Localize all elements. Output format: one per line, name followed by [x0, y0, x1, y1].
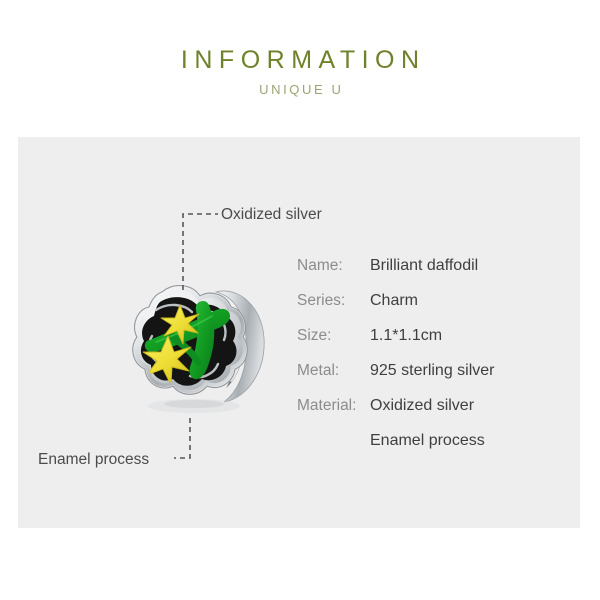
spec-label-material: Material:: [297, 396, 370, 416]
charm-reflection-core: [164, 400, 224, 408]
spec-label-metal: Metal:: [297, 361, 370, 381]
spec-row-size: Size: 1.1*1.1cm: [297, 326, 557, 361]
spec-row-material-continued: Enamel process: [297, 431, 557, 466]
spec-value-material: Oxidized silver: [370, 396, 474, 416]
spec-label-name: Name:: [297, 256, 370, 276]
page-header: INFORMATION UNIQUE U: [0, 0, 600, 137]
spec-label-series: Series:: [297, 291, 370, 311]
charm-face: [133, 286, 247, 395]
spec-value-size: 1.1*1.1cm: [370, 326, 442, 346]
product-image: [112, 280, 274, 430]
product-information-page: INFORMATION UNIQUE U: [0, 0, 600, 600]
product-spec-list: Name: Brilliant daffodil Series: Charm S…: [297, 256, 557, 466]
spec-label-size: Size:: [297, 326, 370, 346]
spec-row-series: Series: Charm: [297, 291, 557, 326]
annotation-oxidized-silver: Oxidized silver: [221, 205, 322, 225]
spec-row-name: Name: Brilliant daffodil: [297, 256, 557, 291]
page-subtitle: UNIQUE U: [0, 82, 600, 98]
charm-illustration: [112, 280, 274, 430]
spec-row-material: Material: Oxidized silver: [297, 396, 557, 431]
spec-value-material-continued: Enamel process: [370, 431, 485, 451]
annotation-enamel-process: Enamel process: [38, 450, 149, 470]
spec-value-name: Brilliant daffodil: [370, 256, 478, 276]
spec-value-metal: 925 sterling silver: [370, 361, 495, 381]
page-title: INFORMATION: [0, 46, 600, 74]
spec-value-series: Charm: [370, 291, 418, 311]
spec-row-metal: Metal: 925 sterling silver: [297, 361, 557, 396]
